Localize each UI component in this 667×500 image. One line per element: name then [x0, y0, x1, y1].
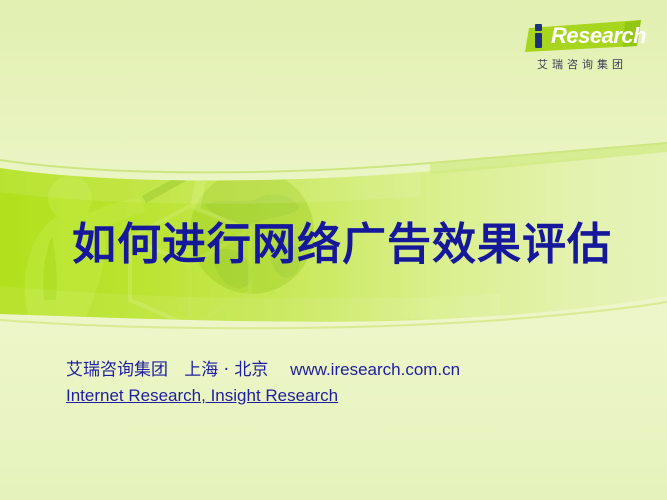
band-sheen-top	[0, 168, 420, 204]
footer-company: 艾瑞咨询集团	[66, 360, 168, 380]
band-sheen-bottom	[0, 286, 500, 321]
band-highlight-right	[430, 143, 667, 174]
presentation-slide: Research 艾瑞咨询集团 如何进行网络广告效果评估 艾瑞咨询集团 上海 ·…	[0, 0, 667, 500]
band-accent-bottom	[0, 302, 667, 328]
footer-tagline: Internet Research, Insight Research	[66, 384, 460, 407]
logo-i-dot	[535, 24, 542, 31]
slide-footer: 艾瑞咨询集团 上海 · 北京 www.iresearch.com.cn Inte…	[66, 358, 460, 407]
iresearch-logo: Research 艾瑞咨询集团	[525, 20, 645, 78]
footer-url[interactable]: www.iresearch.com.cn	[290, 360, 460, 379]
logo-mark: Research	[525, 20, 645, 54]
footer-line-company: 艾瑞咨询集团 上海 · 北京 www.iresearch.com.cn	[66, 358, 460, 382]
band-accent-top	[0, 143, 667, 172]
footer-cities: 上海 · 北京	[184, 360, 268, 380]
pointer-icon	[142, 163, 204, 203]
logo-letter-i	[535, 24, 542, 48]
logo-i-stem	[535, 33, 542, 48]
slide-title: 如何进行网络广告效果评估	[72, 216, 612, 274]
logo-chinese-name: 艾瑞咨询集团	[537, 56, 627, 72]
logo-wordmark: Research	[551, 23, 646, 49]
